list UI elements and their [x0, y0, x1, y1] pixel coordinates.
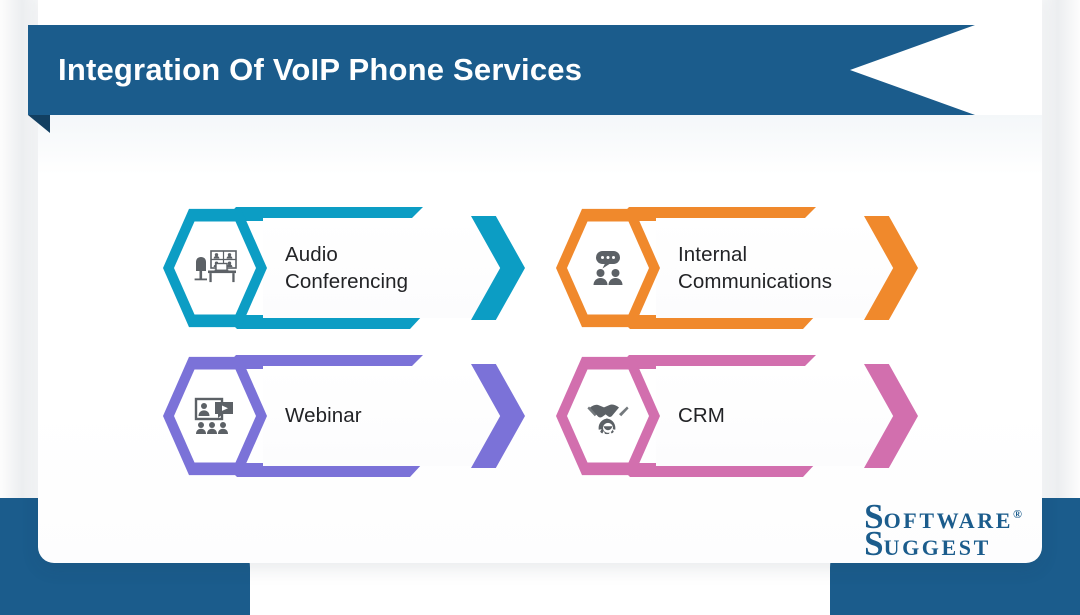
- card-label-line1: Webinar: [285, 402, 362, 429]
- slide-canvas: Integration Of VoIP Phone Services: [0, 0, 1080, 615]
- card-label: AudioConferencing: [285, 218, 515, 318]
- card-label-line2: Communications: [678, 270, 832, 293]
- card-webinar[interactable]: Webinar: [163, 355, 523, 477]
- card-internal-communications[interactable]: InternalCommunications: [556, 207, 916, 329]
- card-icon-badge: [163, 355, 267, 477]
- registered-trademark-icon: ®: [1013, 509, 1022, 520]
- card-icon-badge: [163, 207, 267, 329]
- card-label-line1: Internal: [678, 243, 747, 266]
- video-conference-desk-icon: [192, 248, 238, 288]
- people-speech-bubble-icon: [588, 249, 628, 287]
- card-icon-badge: [556, 355, 660, 477]
- presentation-play-audience-icon: [193, 396, 237, 436]
- logo-line2-rest: UGGEST: [884, 538, 991, 559]
- card-label-line1: Audio: [285, 243, 338, 266]
- softwaresuggest-logo: SOFTWARE® SUGGEST: [864, 500, 1022, 561]
- card-icon-badge: [556, 207, 660, 329]
- card-label: Webinar: [285, 366, 515, 466]
- card-label: CRM: [678, 366, 908, 466]
- logo-line1-rest: OFTWARE: [884, 511, 1013, 532]
- card-label-line2: Conferencing: [285, 270, 408, 293]
- handshake-gear-icon: [587, 395, 629, 437]
- logo-line2-initial: S: [864, 527, 883, 560]
- card-label: InternalCommunications: [678, 218, 908, 318]
- card-crm[interactable]: CRM: [556, 355, 916, 477]
- card-audio-conferencing[interactable]: AudioConferencing: [163, 207, 523, 329]
- card-label-line1: CRM: [678, 402, 725, 429]
